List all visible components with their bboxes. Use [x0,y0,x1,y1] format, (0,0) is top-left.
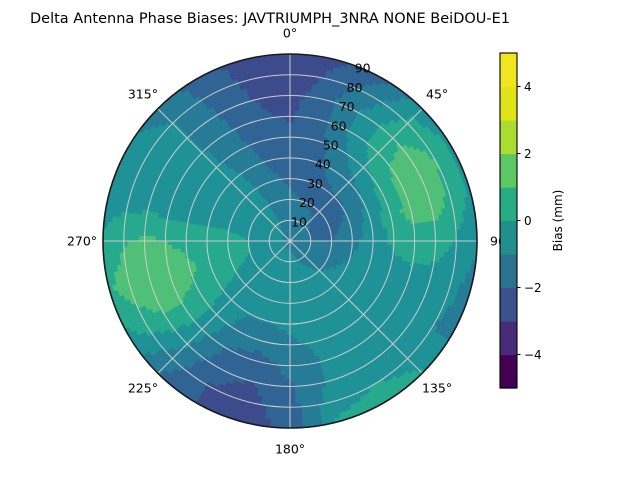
colorbar-swatch-1 [500,321,517,355]
angular-tick-label-45: 45° [426,86,448,101]
page-title: Delta Antenna Phase Biases: JAVTRIUMPH_3… [30,11,510,27]
figure-canvas: Delta Antenna Phase Biases: JAVTRIUMPH_3… [0,0,640,480]
radial-tick-label-30: 30 [307,176,323,191]
colorbar-tick-label-3: 2 [524,147,532,161]
radial-tick-label-20: 20 [299,195,315,210]
angular-tick-label-270: 270° [67,234,97,249]
radial-tick-label-70: 70 [339,99,355,114]
colorbar-swatch-5 [500,187,517,221]
angular-tick-label-135: 135° [422,381,452,396]
colorbar-tick-label-0: −4 [524,348,542,362]
colorbar-swatch-2 [500,288,517,322]
colorbar-swatch-4 [500,221,517,255]
colorbar-swatch-8 [500,87,517,121]
radial-tick-label-90: 90 [355,61,371,76]
angular-tick-label-315: 315° [128,86,158,101]
angular-tick-label-180: 180° [275,442,305,457]
colorbar-tick-label-1: −2 [524,281,542,295]
colorbar-swatches [500,53,517,389]
colorbar-axis-label: Bias (mm) [551,190,565,252]
colorbar-swatch-9 [500,53,517,87]
radial-tick-label-50: 50 [323,138,339,153]
polar-grid [103,54,477,428]
radial-tick-label-60: 60 [331,118,347,133]
colorbar-swatch-3 [500,254,517,288]
radial-tick-label-80: 80 [347,80,363,95]
radial-tick-label-40: 40 [315,157,331,172]
colorbar-swatch-6 [500,154,517,188]
colorbar-swatch-0 [500,355,517,389]
radial-tick-label-10: 10 [291,214,307,229]
angular-tick-label-225: 225° [128,381,158,396]
colorbar-tick-label-4: 4 [524,80,532,94]
colorbar-swatch-7 [500,120,517,154]
colorbar-tick-label-2: 0 [524,214,532,228]
angular-tick-label-0: 0° [283,26,297,41]
